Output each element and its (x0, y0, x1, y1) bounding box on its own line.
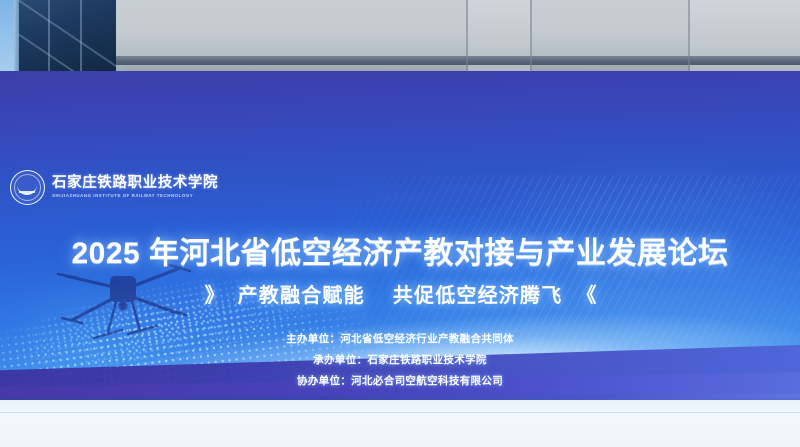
organizer-coorganizer: 协办单位：河北必合司空航空科技有限公司 (0, 371, 800, 392)
subtitle-text-a: 产教融合赋能 (238, 285, 365, 307)
organizer-undertaker: 承办单位：石家庄铁路职业技术学院 (0, 350, 800, 371)
screenshot-root: 石家庄铁路职业技术学院 SHIJIAZHUANG INSTITUTE OF RA… (0, 0, 800, 447)
institution-logo: 石家庄铁路职业技术学院 SHIJIAZHUANG INSTITUTE OF RA… (10, 170, 218, 205)
subtitle-text-b: 共促低空经济腾飞 (393, 285, 563, 307)
banner-title: 2025 年河北省低空经济产教对接与产业发展论坛 (0, 228, 800, 272)
circular-emblem-icon (10, 170, 45, 205)
facade-seam (466, 0, 468, 74)
facade-seam (688, 0, 690, 74)
organizer-list: 主办单位：河北省低空经济行业产教融合共同体 承办单位：石家庄铁路职业技术学院 协… (0, 329, 800, 392)
left-chevron-icon: 》 (205, 285, 224, 307)
conference-banner: 石家庄铁路职业技术学院 SHIJIAZHUANG INSTITUTE OF RA… (0, 71, 800, 405)
glass-curtain-wall (18, 0, 116, 74)
glass-edge-column (14, 0, 19, 74)
facade-seam (530, 0, 532, 74)
right-chevron-icon: 《 (576, 285, 595, 307)
institution-name-cn: 石家庄铁路职业技术学院 (52, 176, 218, 191)
institution-name-en: SHIJIAZHUANG INSTITUTE OF RAILWAY TECHNO… (52, 194, 218, 198)
floor-seam (0, 412, 800, 413)
floor-region (0, 400, 800, 447)
organizer-host: 主办单位：河北省低空经济行业产教融合共同体 (0, 329, 800, 350)
banner-subtitle: 》产教融合赋能共促低空经济腾飞《 (0, 279, 800, 308)
